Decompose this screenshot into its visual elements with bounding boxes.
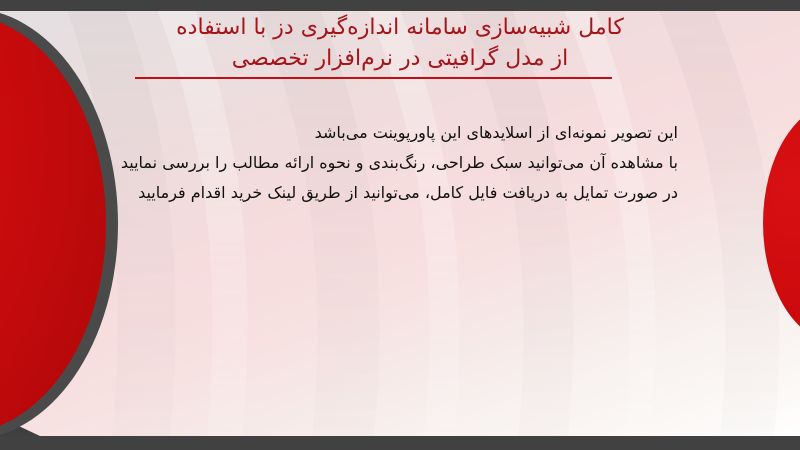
title-underline-rule bbox=[135, 77, 612, 79]
slide-frame-bottom bbox=[0, 436, 800, 450]
background-stripe-texture bbox=[0, 11, 800, 436]
slide-title: کامل شبیه‌سازی سامانه اندازه‌گیری دز با … bbox=[120, 12, 680, 74]
slide-frame-top bbox=[0, 0, 800, 12]
body-line-3: در صورت تمایل به دریافت فایل کامل، می‌تو… bbox=[118, 178, 678, 208]
slide-background-plate bbox=[0, 11, 800, 436]
body-line-1: این تصویر نمونه‌ای از اسلایدهای این پاور… bbox=[118, 118, 678, 148]
presentation-slide: کامل شبیه‌سازی سامانه اندازه‌گیری دز با … bbox=[0, 0, 800, 450]
slide-title-line-2: از مدل گرافیتی در نرم‌افزار تخصصی bbox=[120, 43, 680, 74]
slide-body-text: این تصویر نمونه‌ای از اسلایدهای این پاور… bbox=[118, 118, 678, 208]
slide-title-line-1: کامل شبیه‌سازی سامانه اندازه‌گیری دز با … bbox=[120, 12, 680, 43]
body-line-2: با مشاهده آن می‌توانید سبک طراحی، رنگ‌بن… bbox=[118, 148, 678, 178]
